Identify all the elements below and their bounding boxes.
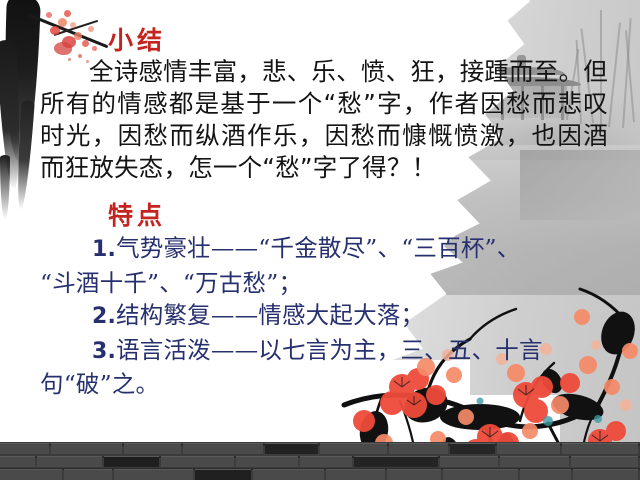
feature-item-3-line-2: 句“破”之。 <box>40 368 620 401</box>
slide-text-layer: 小结 全诗感情丰富，悲、乐、愤、狂，接踵而至。但所有的情感都是基于一个“愁”字，… <box>0 0 640 480</box>
feature-item-1-number: 1. <box>92 237 116 262</box>
features-list: 1.气势豪壮——“千金散尽”、“三百杯”、 “斗酒十千”、“万古愁”； 2.结构… <box>40 232 620 401</box>
summary-paragraph: 全诗感情丰富，悲、乐、愤、狂，接踵而至。但所有的情感都是基于一个“愁”字，作者因… <box>40 56 608 184</box>
feature-item-1-text: 气势豪壮——“千金散尽”、“三百杯”、 <box>116 234 520 262</box>
feature-item-1-line-1: 1.气势豪壮——“千金散尽”、“三百杯”、 <box>40 232 620 267</box>
feature-item-3-number: 3. <box>92 339 116 364</box>
summary-heading: 小结 <box>108 21 166 57</box>
feature-item-3-line-1: 3.语言活泼——以七言为主，三、五、十言 <box>40 334 620 369</box>
feature-item-2-line-1: 2.结构繁复——情感大起大落； <box>40 299 620 334</box>
feature-item-2-text: 结构繁复——情感大起大落； <box>116 301 424 329</box>
feature-item-1-line-2: “斗酒十千”、“万古愁”； <box>40 267 620 300</box>
features-heading: 特点 <box>108 196 166 232</box>
feature-item-3-text: 语言活泼——以七言为主，三、五、十言 <box>116 336 543 364</box>
feature-item-2-number: 2. <box>92 304 116 329</box>
slide-canvas: 小结 全诗感情丰富，悲、乐、愤、狂，接踵而至。但所有的情感都是基于一个“愁”字，… <box>0 0 640 480</box>
